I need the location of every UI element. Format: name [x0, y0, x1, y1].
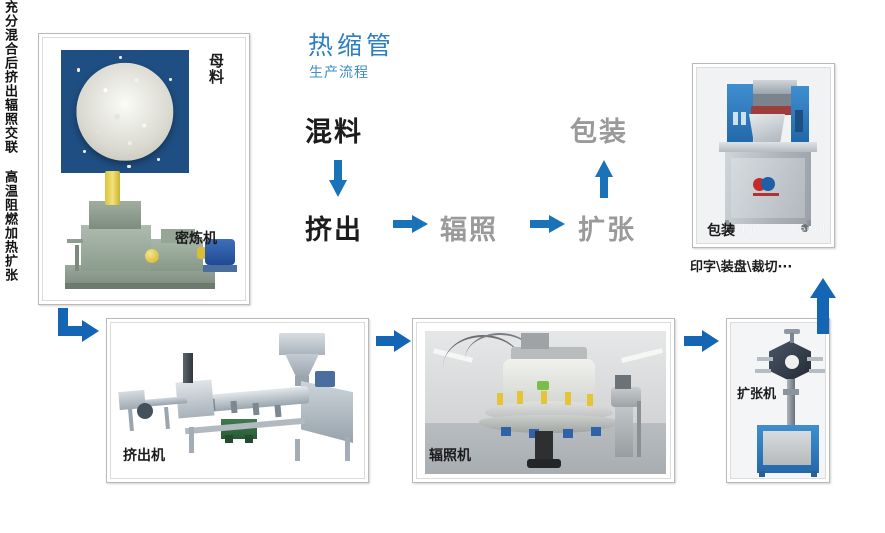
- packaging-machine-photo: china.makepolo.com: [703, 74, 831, 242]
- extruder-caption: 挤出机: [123, 445, 165, 465]
- arrow-right-irradiator-to-expander: [684, 330, 719, 352]
- expander-caption: 扩张机: [737, 383, 776, 402]
- connector-label-irradiation-crosslink: 辐照交联 高温阻燃: [0, 98, 19, 226]
- packaging-caption: 包装: [707, 220, 735, 240]
- arrow-right-extrude-to-irradiate: [393, 215, 428, 233]
- arrow-right-extruder-to-irradiator: [376, 330, 411, 352]
- arrow-down-mix-to-extrude: [329, 160, 347, 197]
- station-masterbatch-box: 母料: [38, 33, 250, 305]
- station-extruder-box: 挤出机: [106, 318, 369, 483]
- masterbatch-pellets-photo: [61, 50, 189, 173]
- arrow-up-expand-to-package: [595, 160, 613, 198]
- flow-step-mixing: 混料: [305, 110, 363, 149]
- arrow-elbow-kneader-to-extruder: [58, 308, 104, 350]
- image-watermark: china.makepolo.com: [735, 222, 831, 237]
- packaging-note: 印字\装盘\裁切···: [690, 256, 792, 275]
- station-irradiator-box: 辐照机: [412, 318, 675, 483]
- station-packaging-box: china.makepolo.com 包装: [692, 63, 835, 248]
- kneader-machine-label: 密炼机: [175, 228, 217, 248]
- extruder-machine-photo: [119, 331, 365, 463]
- flow-step-expansion: 扩张: [578, 208, 636, 247]
- page-title: 热缩管: [308, 26, 395, 62]
- masterbatch-photo-label: 母料: [206, 53, 227, 85]
- connector-label-mix-then-extrude: 充分混合后挤出: [0, 0, 19, 98]
- connector-label-heat-expansion: 加热扩张: [0, 226, 19, 282]
- flow-step-extrusion: 挤出: [305, 208, 363, 247]
- flow-step-packaging: 包装: [570, 110, 628, 149]
- flowchart-canvas: 热缩管 生产流程 混料 挤出 辐照 扩张 包装: [0, 0, 885, 533]
- expander-machine-photo: [735, 327, 826, 477]
- arrow-up-expander-to-packaging: [810, 278, 836, 334]
- arrow-right-irradiate-to-expand: [530, 215, 565, 233]
- flow-step-irradiation: 辐照: [440, 208, 498, 247]
- station-expander-box: 扩张机: [726, 318, 830, 483]
- irradiator-caption: 辐照机: [429, 445, 471, 465]
- page-subtitle: 生产流程: [309, 62, 369, 82]
